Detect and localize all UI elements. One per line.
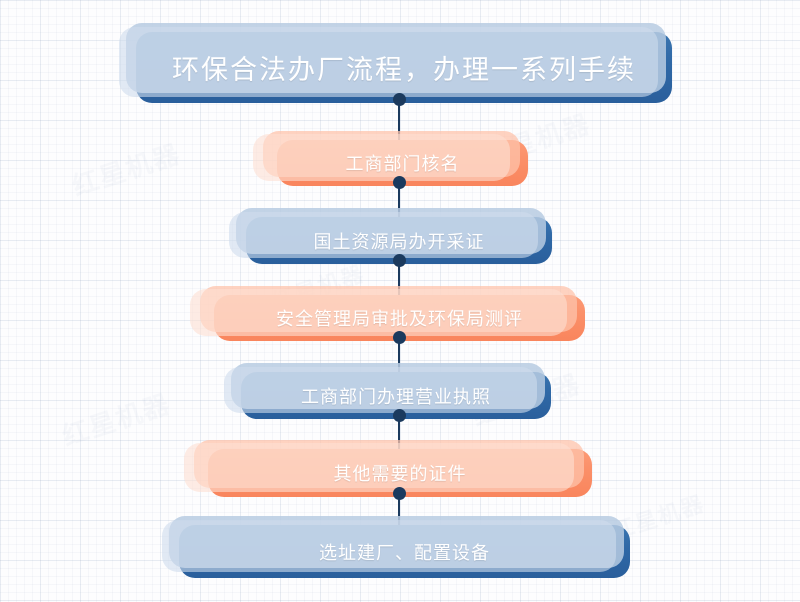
flow-node-step-5-label: 其他需要的证件 bbox=[334, 460, 467, 486]
flow-node-step-4-label: 工商部门办理营业执照 bbox=[301, 383, 491, 409]
flow-node-step-6[interactable]: 选址建厂、配置设备 bbox=[179, 525, 630, 578]
connector-dot-3 bbox=[393, 254, 406, 267]
flow-node-step-6-label: 选址建厂、配置设备 bbox=[319, 539, 490, 565]
flow-node-step-2-label: 国土资源局办开采证 bbox=[314, 228, 485, 254]
connector-dot-2 bbox=[393, 176, 406, 189]
flow-node-title[interactable]: 环保合法办厂流程，办理一系列手续 bbox=[136, 32, 672, 103]
flowchart-canvas: 红星机器 红星机器 红星机器 红星机器 红星机器 红星机器 环保合法办厂流程，办… bbox=[0, 0, 800, 602]
flow-node-title-label: 环保合法办厂流程，办理一系列手续 bbox=[172, 48, 636, 87]
connector-dot-4 bbox=[393, 331, 406, 344]
connector-dot-5 bbox=[393, 409, 406, 422]
watermark: 红星机器 bbox=[67, 134, 185, 204]
connector-dot-1 bbox=[393, 93, 406, 106]
connector-dot-6 bbox=[393, 487, 406, 500]
flow-node-step-1-label: 工商部门核名 bbox=[346, 150, 460, 176]
flow-node-step-3-label: 安全管理局审批及环保局测评 bbox=[276, 305, 523, 331]
watermark: 红星机器 bbox=[57, 384, 175, 454]
